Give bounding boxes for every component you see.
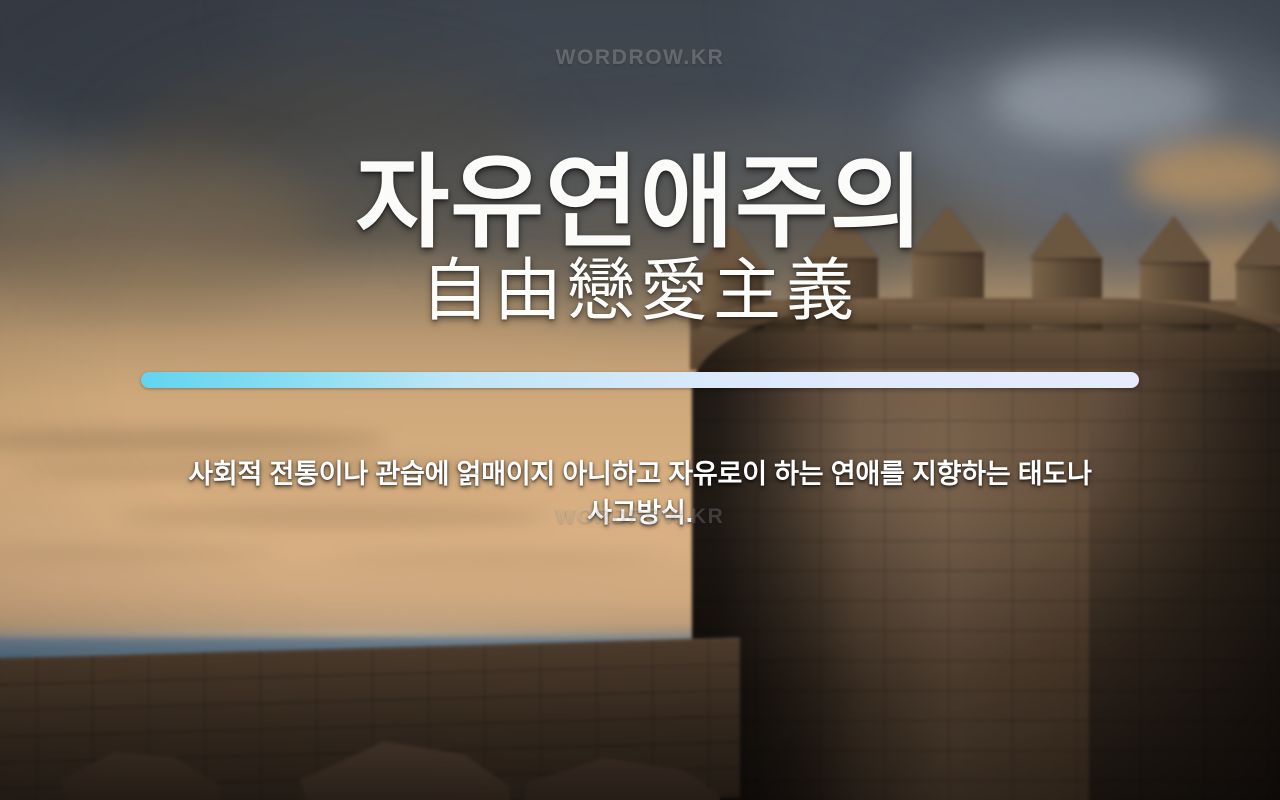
watermark-bottom: WORDROW.KR (0, 505, 1280, 529)
card-content: WORDROW.KR 자유연애주의 自由戀愛主義 사회적 전통이나 관습에 얽매… (0, 0, 1280, 800)
word-title-hangul: 자유연애주의 (0, 146, 1280, 260)
gradient-divider (141, 372, 1139, 388)
word-title-hanja: 自由戀愛主義 (0, 253, 1280, 331)
watermark-top: WORDROW.KR (0, 46, 1280, 70)
word-card: WORDROW.KR 자유연애주의 自由戀愛主義 사회적 전통이나 관습에 얽매… (0, 0, 1280, 800)
